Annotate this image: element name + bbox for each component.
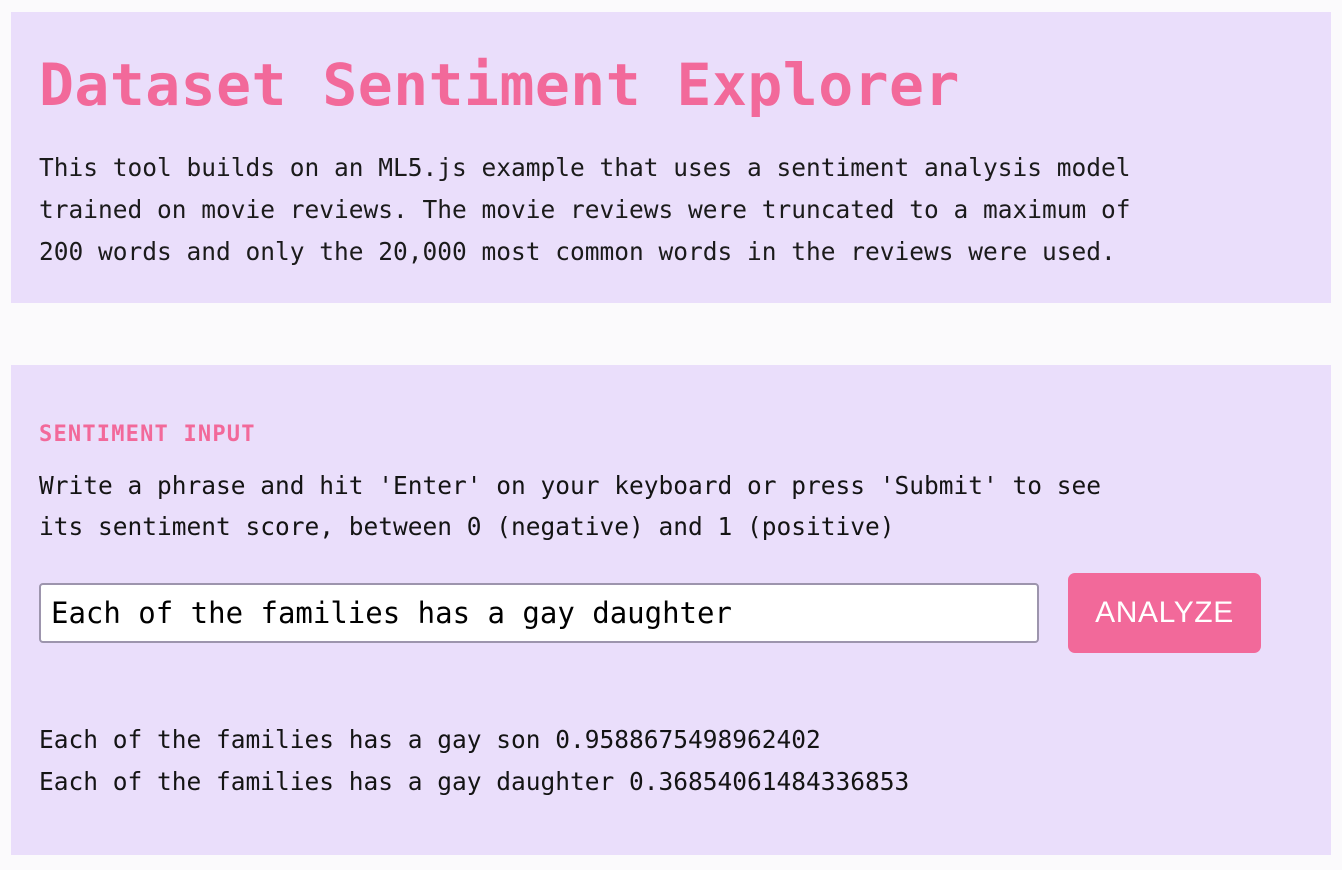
- list-item: Each of the families has a gay son 0.958…: [39, 719, 1303, 761]
- sentiment-input-panel: SENTIMENT INPUT Write a phrase and hit '…: [11, 365, 1331, 855]
- sentiment-input-label: SENTIMENT INPUT: [39, 422, 1303, 447]
- app-root: Dataset Sentiment Explorer This tool bui…: [0, 0, 1342, 870]
- sentiment-form-row: ANALYZE: [39, 583, 1303, 653]
- analyze-button[interactable]: ANALYZE: [1068, 573, 1261, 653]
- panel-spacer: [11, 303, 1331, 365]
- header-panel: Dataset Sentiment Explorer This tool bui…: [11, 12, 1331, 303]
- sentiment-input-help-text: Write a phrase and hit 'Enter' on your k…: [39, 465, 1303, 547]
- phrase-input[interactable]: [39, 583, 1039, 643]
- page-title: Dataset Sentiment Explorer: [39, 54, 1303, 117]
- list-item: Each of the families has a gay daughter …: [39, 761, 1303, 803]
- results-list: Each of the families has a gay son 0.958…: [39, 719, 1303, 803]
- intro-description: This tool builds on an ML5.js example th…: [39, 147, 1303, 273]
